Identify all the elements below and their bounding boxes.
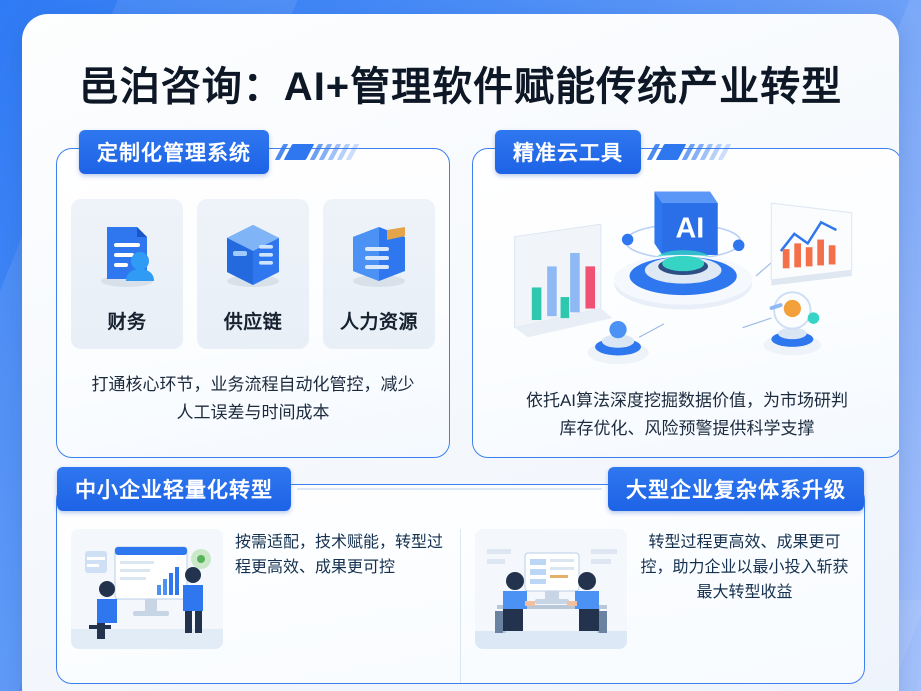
stripe-decoration-icon: [279, 142, 355, 162]
card-header-left: 定制化管理系统: [79, 130, 355, 174]
bottom-text-sme: 按需适配，技术赋能，转型过程更高效、成果更可控: [235, 529, 446, 581]
tile-finance[interactable]: 财务: [71, 199, 183, 349]
tile-label-human-resources: 人力资源: [340, 307, 418, 334]
stripe-decoration-icon: [651, 142, 727, 162]
book-icon: [343, 219, 415, 291]
card-description-left: 打通核心环节，业务流程自动化管控，减少 人工误差与时间成本: [71, 371, 435, 427]
bottom-column-large-enterprise: 转型过程更高效、成果更可控，助力企业以最小投入斩获最大转型收益: [460, 529, 864, 683]
desc-line-1: 打通核心环节，业务流程自动化管控，减少: [71, 371, 435, 399]
page-title: 邑泊咨询：AI+管理软件赋能传统产业转型: [38, 54, 883, 112]
badge-precision-cloud-tools: 精准云工具: [495, 130, 641, 174]
header-divider-line: [297, 488, 602, 490]
two-people-dashboard-illustration: [71, 529, 223, 649]
top-cards-row: 定制化管理系统: [56, 148, 865, 458]
card-precision-cloud-tools: 精准云工具: [472, 148, 899, 458]
bottom-section-headers: 中小企业轻量化转型 大型企业复杂体系升级: [57, 467, 864, 511]
bottom-section: 中小企业轻量化转型 大型企业复杂体系升级: [56, 484, 865, 684]
desc-line-2: 人工误差与时间成本: [71, 399, 435, 427]
card-description-right: 依托AI算法深度挖掘数据价值，为市场研判 库存优化、风险预警提供科学支撑: [487, 387, 887, 443]
bottom-text-large-enterprise: 转型过程更高效、成果更可控，助力企业以最小投入斩获最大转型收益: [639, 529, 850, 605]
two-people-desk-monitor-illustration: [475, 529, 627, 649]
tile-label-supply-chain: 供应链: [224, 307, 283, 334]
badge-sme-lightweight-transformation: 中小企业轻量化转型: [57, 467, 291, 511]
module-tiles: 财务: [71, 199, 435, 349]
badge-custom-management-system: 定制化管理系统: [79, 130, 269, 174]
card-header-right: 精准云工具: [495, 130, 727, 174]
ai-isometric-illustration: AI: [487, 185, 887, 365]
card-custom-management-system: 定制化管理系统: [56, 148, 450, 458]
bottom-columns: 按需适配，技术赋能，转型过程更高效、成果更可控: [57, 485, 864, 683]
badge-large-enterprise-upgrade: 大型企业复杂体系升级: [608, 467, 864, 511]
bottom-column-sme: 按需适配，技术赋能，转型过程更高效、成果更可控: [57, 529, 460, 683]
document-person-icon: [91, 219, 163, 291]
tile-label-finance: 财务: [107, 307, 146, 334]
desc-line-1: 依托AI算法深度挖掘数据价值，为市场研判: [487, 387, 887, 415]
desc-line-2: 库存优化、风险预警提供科学支撑: [487, 415, 887, 443]
tile-supply-chain[interactable]: 供应链: [197, 199, 309, 349]
svg-text:AI: AI: [676, 213, 705, 245]
tile-human-resources[interactable]: 人力资源: [323, 199, 435, 349]
server-cube-icon: [217, 219, 289, 291]
main-panel: 邑泊咨询：AI+管理软件赋能传统产业转型 定制化管理系统: [22, 14, 899, 691]
